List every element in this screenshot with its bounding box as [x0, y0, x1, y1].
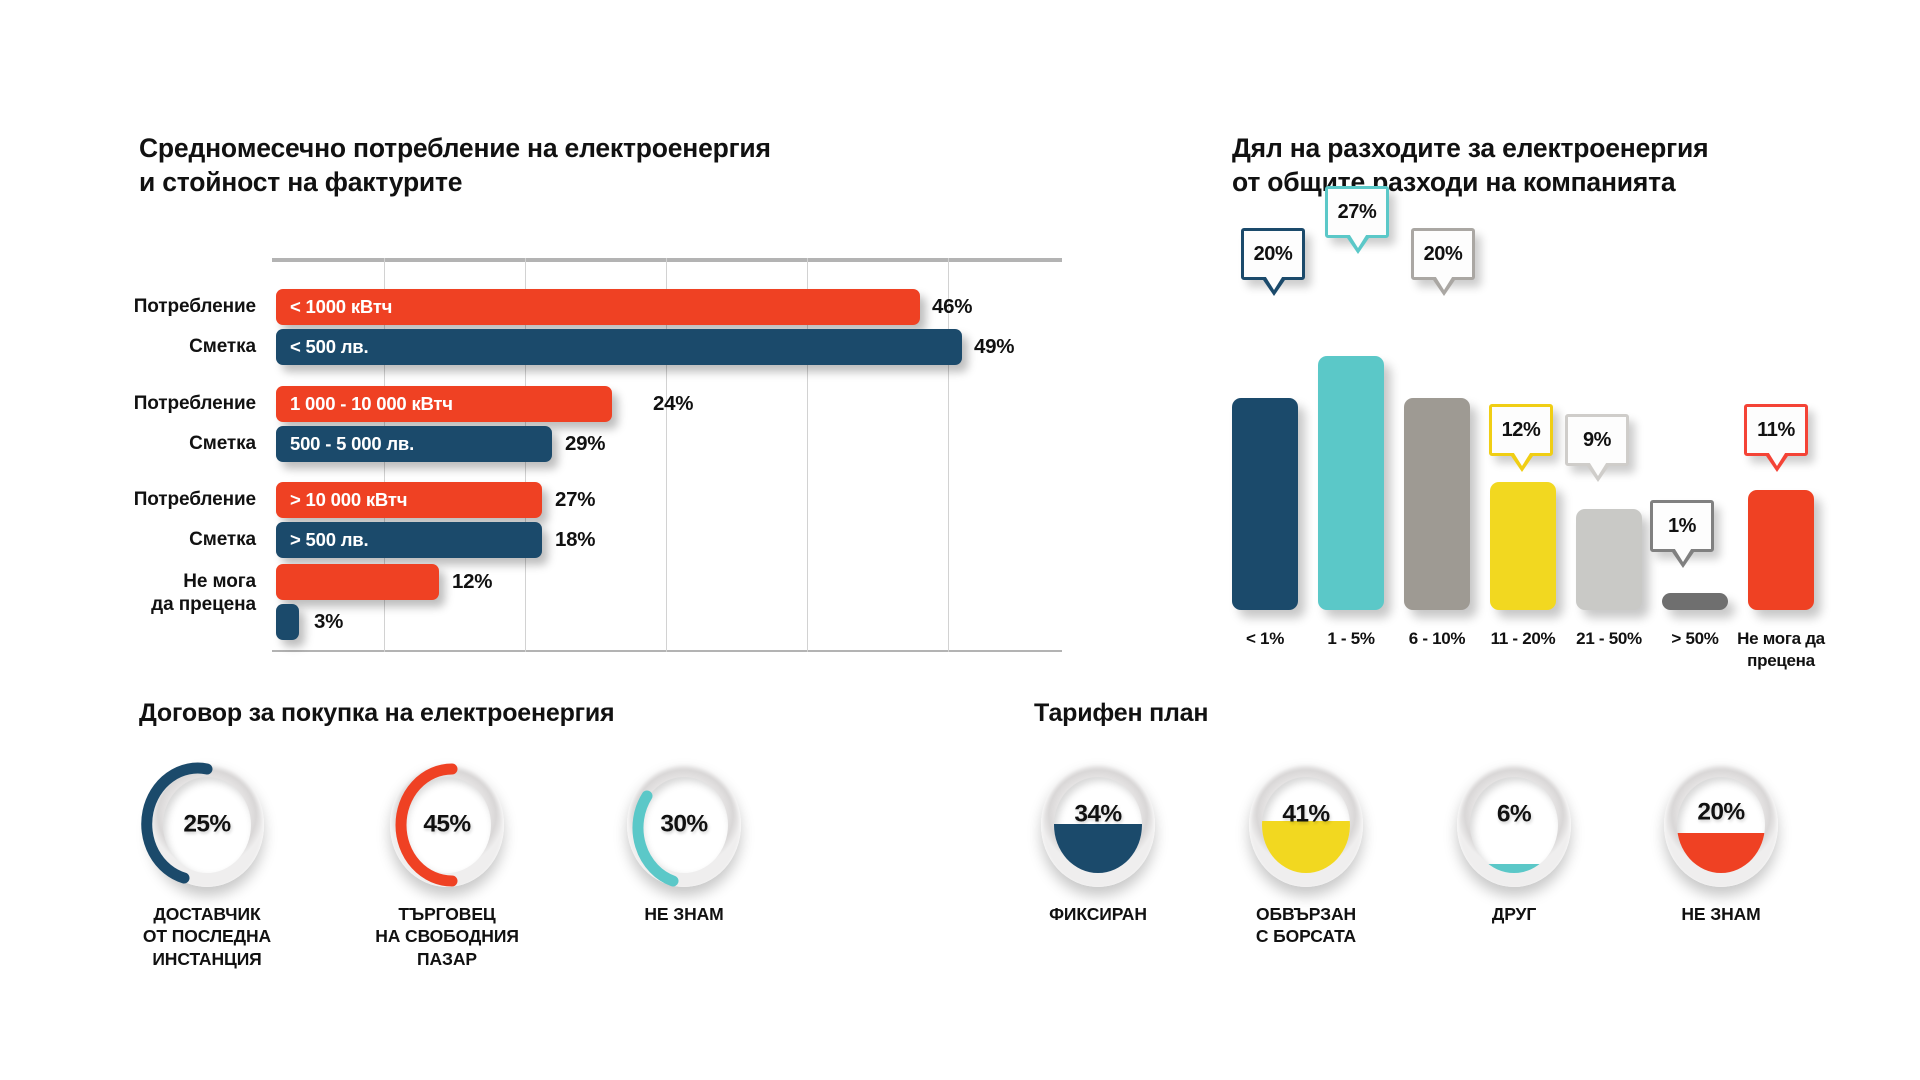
- callout-lt1: 20%: [1241, 228, 1305, 280]
- row-label-g3-consumption: Потребление: [40, 488, 256, 511]
- callout-11-20: 12%: [1489, 404, 1553, 456]
- bar-bill-500-5000[interactable]: 500 - 5 000 лв.: [276, 426, 552, 462]
- col-gt50[interactable]: [1662, 593, 1728, 610]
- donut-value: 41%: [1249, 801, 1363, 829]
- donut-tariff-dont-know[interactable]: 20% НЕ ЗНАМ: [1664, 763, 1778, 887]
- bar-inner-label: < 500 лв.: [276, 336, 368, 358]
- row-label-g1-bill: Сметка: [40, 335, 256, 358]
- callout-tail-inner: [1434, 274, 1454, 290]
- callout-value: 1%: [1668, 515, 1696, 538]
- donut-fill: [1470, 864, 1558, 873]
- bar-bill-lt500[interactable]: < 500 лв.: [276, 329, 962, 365]
- callout-tail-inner: [1673, 546, 1693, 562]
- donut-tariff-other[interactable]: 6% ДРУГ: [1457, 763, 1571, 887]
- bar-inner-label: > 10 000 кВтч: [276, 489, 407, 511]
- row-label-g4-cannot-estimate: Не мога да прецена: [40, 570, 256, 616]
- donut-value: 30%: [627, 810, 741, 838]
- callout-21-50: 9%: [1565, 414, 1629, 466]
- donut-supplier-of-last-resort[interactable]: 25% ДОСТАВЧИК ОТ ПОСЛЕДНА ИНСТАНЦИЯ: [150, 763, 264, 887]
- callout-6-10: 20%: [1411, 228, 1475, 280]
- row-label-g3-bill: Сметка: [40, 528, 256, 551]
- callout-value: 20%: [1424, 243, 1463, 266]
- bar-value-27: 27%: [555, 482, 595, 518]
- bar-value-3: 3%: [314, 604, 343, 640]
- callout-tail-inner: [1588, 460, 1608, 476]
- callout-value: 20%: [1254, 243, 1293, 266]
- donut-contract-dont-know[interactable]: 30% НЕ ЗНАМ: [627, 763, 741, 887]
- donut-caption: ОБВЪРЗАН С БОРСАТА: [1206, 903, 1406, 948]
- bar-bill-cannot-estimate[interactable]: [276, 604, 299, 640]
- donut-fill: [1677, 833, 1765, 873]
- bar-inner-label: < 1000 кВтч: [276, 296, 392, 318]
- row-label-g2-bill: Сметка: [40, 432, 256, 455]
- bar-inner-label: 500 - 5 000 лв.: [276, 433, 414, 455]
- bar-inner-label: 1 000 - 10 000 кВтч: [276, 393, 453, 415]
- bar-consumption-lt1000[interactable]: < 1000 кВтч: [276, 289, 920, 325]
- bar-value-46: 46%: [932, 289, 972, 325]
- callout-value: 9%: [1583, 429, 1611, 452]
- callout-tail-inner: [1348, 232, 1368, 248]
- consumption-bar-chart: < 1000 кВтч 46% < 500 лв. 49% 1 000 - 10…: [272, 258, 1062, 652]
- bar-consumption-1000-10000[interactable]: 1 000 - 10 000 кВтч: [276, 386, 612, 422]
- bar-bill-gt500[interactable]: > 500 лв.: [276, 522, 542, 558]
- donut-caption: НЕ ЗНАМ: [1621, 903, 1821, 925]
- bar-inner-label: > 500 лв.: [276, 529, 368, 551]
- bar-consumption-gt10000[interactable]: > 10 000 кВтч: [276, 482, 542, 518]
- col-6-10[interactable]: [1404, 398, 1470, 610]
- bar-consumption-cannot-estimate[interactable]: [276, 564, 439, 600]
- callout-gt50: 1%: [1650, 500, 1714, 552]
- donut-value: 6%: [1457, 801, 1571, 829]
- callout-tail-inner: [1767, 450, 1787, 466]
- donut-caption: НЕ ЗНАМ: [584, 903, 784, 925]
- callout-value: 27%: [1338, 201, 1377, 224]
- col-11-20[interactable]: [1490, 482, 1556, 610]
- callout-value: 11%: [1757, 419, 1795, 442]
- tariff-chart-title: Тарифен план: [1034, 698, 1534, 729]
- callout-tail-inner: [1264, 274, 1284, 290]
- bar-value-29: 29%: [565, 426, 605, 462]
- axis-label-cannot-estimate: Не мога да прецена: [1729, 628, 1833, 672]
- consumption-chart-title: Среднoмесечно потребление на електроенер…: [139, 132, 969, 200]
- col-lt1[interactable]: [1232, 398, 1298, 610]
- donut-tariff-fixed[interactable]: 34% ФИКСИРАН: [1041, 763, 1155, 887]
- contract-chart-title: Договор за покупка на електроенергия: [139, 698, 839, 729]
- donut-value: 20%: [1664, 798, 1778, 826]
- donut-caption: ТЪРГОВЕЦ НА СВОБОДНИЯ ПАЗАР: [347, 903, 547, 970]
- donut-caption: ДРУГ: [1414, 903, 1614, 925]
- bar-value-24: 24%: [653, 386, 693, 422]
- callout-tail-inner: [1512, 450, 1532, 466]
- donut-value: 25%: [150, 810, 264, 838]
- donut-tariff-exchange-linked[interactable]: 41% ОБВЪРЗАН С БОРСАТА: [1249, 763, 1363, 887]
- donut-caption: ФИКСИРАН: [998, 903, 1198, 925]
- col-cannot-estimate[interactable]: [1748, 490, 1814, 610]
- donut-fill: [1054, 824, 1142, 873]
- col-1-5[interactable]: [1318, 356, 1384, 610]
- donut-value: 34%: [1041, 801, 1155, 829]
- row-label-g2-consumption: Потребление: [40, 392, 256, 415]
- donut-value: 45%: [390, 810, 504, 838]
- donut-fill: [1262, 821, 1350, 873]
- bar-value-18: 18%: [555, 522, 595, 558]
- callout-1-5: 27%: [1325, 186, 1389, 238]
- bar-value-49: 49%: [974, 329, 1014, 365]
- callout-value: 12%: [1502, 419, 1541, 442]
- donut-free-market-trader[interactable]: 45% ТЪРГОВЕЦ НА СВОБОДНИЯ ПАЗАР: [390, 763, 504, 887]
- donut-caption: ДОСТАВЧИК ОТ ПОСЛЕДНА ИНСТАНЦИЯ: [107, 903, 307, 970]
- callout-cannot-estimate: 11%: [1744, 404, 1808, 456]
- row-label-g1-consumption: Потребление: [40, 295, 256, 318]
- col-21-50[interactable]: [1576, 509, 1642, 610]
- bar-value-12: 12%: [452, 564, 492, 600]
